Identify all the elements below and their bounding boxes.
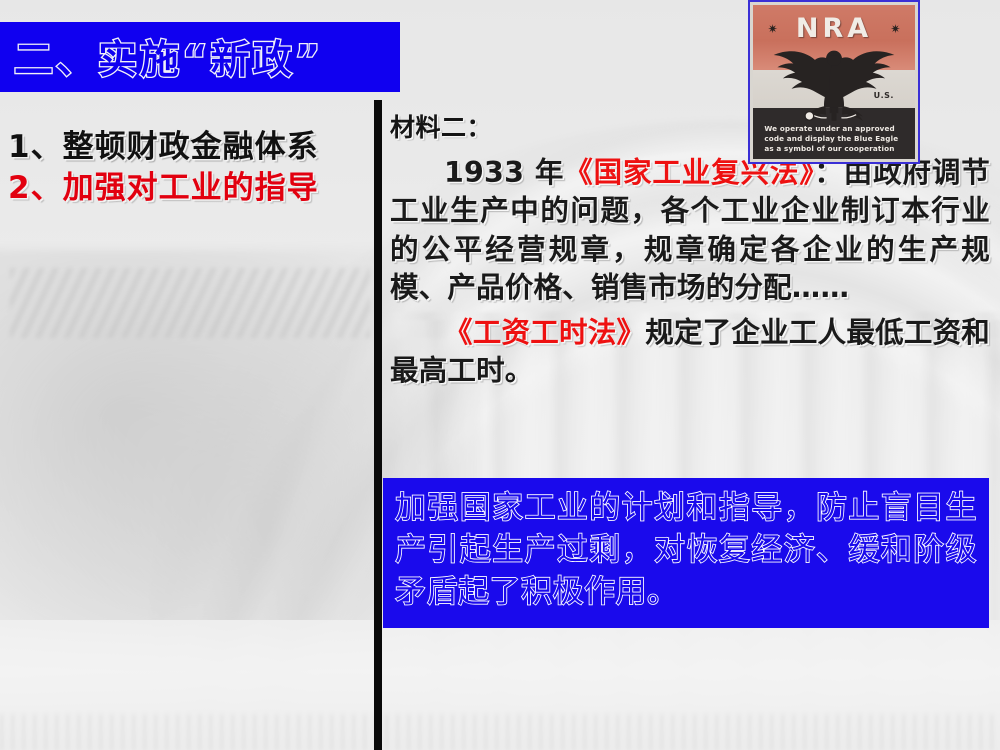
material-year-lead: 1933 年 xyxy=(444,156,564,189)
title-banner: 二、实施“新政” xyxy=(0,22,400,92)
material-paragraph-1: 1933 年《国家工业复兴法》：由政府调节工业生产中的问题，各个工业企业制订本行… xyxy=(390,154,990,308)
slide-canvas: 二、实施“新政” 1、整顿财政金融体系 2、加强对工业的指导 材料二： 1933… xyxy=(0,0,1000,750)
outline-item-2: 2、加强对工业的指导 xyxy=(8,169,380,208)
law-title-wage-hour: 《工资工时法》 xyxy=(444,316,645,349)
star-icon-left: ✷ xyxy=(768,22,778,36)
poster-caption: We operate under an approved code and di… xyxy=(764,124,903,155)
nra-blue-eagle-poster: NRA ✷ ✷ xyxy=(748,0,920,164)
outline-item-1: 1、整顿财政金融体系 xyxy=(8,128,380,167)
blue-eagle-icon xyxy=(772,42,895,122)
star-icon-right: ✷ xyxy=(890,22,900,36)
conclusion-text: 加强国家工业的计划和指导，防止盲目生产引起生产过剩，对恢复经济、缓和阶级矛盾起了… xyxy=(395,487,977,613)
page-title: 二、实施“新政” xyxy=(14,29,323,85)
material-paragraph-2: 《工资工时法》规定了企业工人最低工资和最高工时。 xyxy=(390,314,990,391)
outline-list: 1、整顿财政金融体系 2、加强对工业的指导 xyxy=(8,128,380,208)
poster-image: NRA ✷ ✷ xyxy=(753,5,915,159)
conclusion-box: 加强国家工业的计划和指导，防止盲目生产引起生产过剩，对恢复经济、缓和阶级矛盾起了… xyxy=(383,478,989,628)
poster-us-mark: U.S. xyxy=(874,91,894,100)
